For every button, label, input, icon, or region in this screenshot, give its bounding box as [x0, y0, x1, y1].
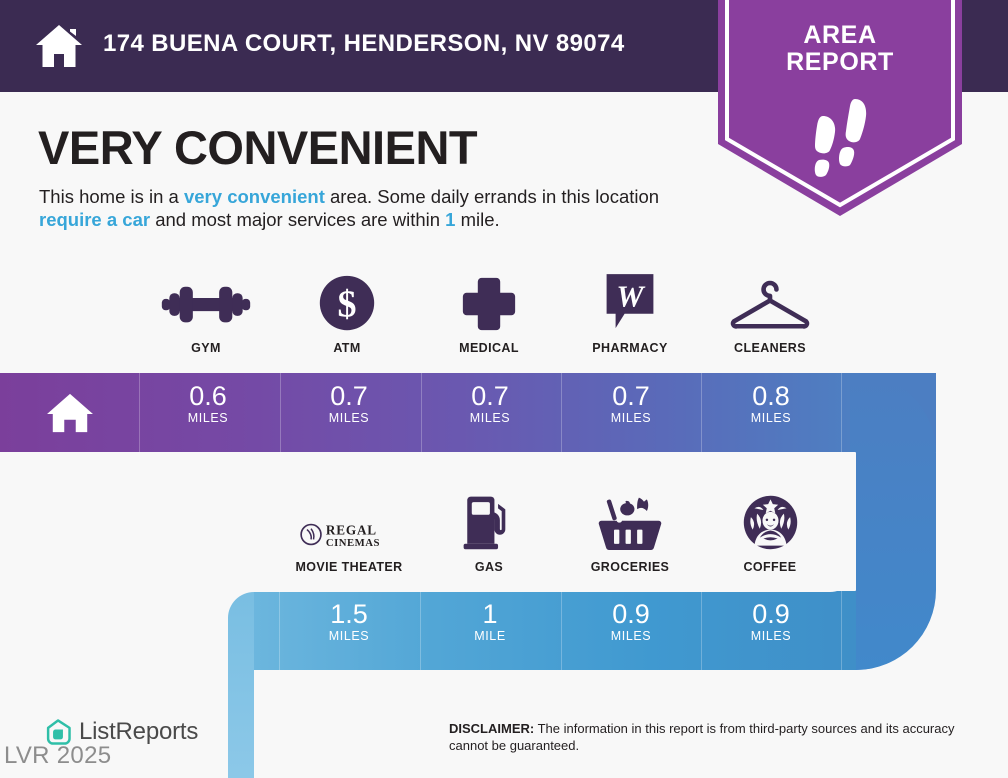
poi-label: PHARMACY — [560, 341, 700, 355]
distance-unit: MILES — [279, 629, 419, 643]
distance-cleaners: 0.8 MILES — [701, 373, 841, 452]
page-title: VERY CONVENIENT — [38, 120, 477, 175]
segment-divider — [420, 591, 421, 670]
dumbbell-icon — [136, 270, 276, 332]
distance-pharmacy: 0.7 MILES — [561, 373, 701, 452]
poi-medical: MEDICAL — [419, 270, 559, 355]
segment-divider — [841, 373, 842, 452]
poi-atm: $ ATM — [277, 270, 417, 355]
distance-unit: MILES — [279, 411, 419, 425]
listreports-brand-name: ListReports — [79, 718, 198, 746]
poi-movie-theater: REGAL CINEMAS MOVIE THEATER — [279, 489, 419, 574]
house-icon — [33, 22, 85, 70]
property-address: 174 BUENA COURT, HENDERSON, NV 89074 — [103, 30, 625, 58]
distance-value: 1.5 — [279, 600, 419, 629]
poi-label: ATM — [277, 341, 417, 355]
poi-label: COFFEE — [700, 560, 840, 574]
distance-medical: 0.7 MILES — [420, 373, 560, 452]
distance-unit: MILES — [701, 411, 841, 425]
poi-pharmacy: W PHARMACY — [560, 270, 700, 355]
poi-label: CLEANERS — [700, 341, 840, 355]
poi-label: GYM — [136, 341, 276, 355]
distance-value: 0.7 — [561, 382, 701, 411]
distance-value: 0.7 — [279, 382, 419, 411]
listreports-house-pin-icon — [44, 718, 72, 746]
clothes-hanger-icon — [700, 270, 840, 332]
summary-highlight-2: require a car — [39, 209, 150, 230]
walgreens-w-icon: W — [560, 270, 700, 332]
segment-divider — [279, 591, 280, 670]
distance-value: 0.6 — [138, 382, 278, 411]
distance-unit: MILES — [561, 629, 701, 643]
distance-groceries: 0.9 MILES — [561, 591, 701, 670]
watermark: LVR 2025 — [4, 742, 111, 770]
medical-cross-icon — [419, 270, 559, 332]
distance-value: 0.8 — [701, 382, 841, 411]
area-report-badge: AREA REPORT — [718, 0, 962, 216]
poi-gas: GAS — [419, 489, 559, 574]
summary-highlight-1: very convenient — [184, 186, 325, 207]
poi-gym: GYM — [136, 270, 276, 355]
poi-coffee: COFFEE — [700, 489, 840, 574]
area-report-page: 174 BUENA COURT, HENDERSON, NV 89074 ARE… — [0, 0, 1008, 778]
segment-divider — [841, 591, 842, 670]
distance-unit: MILE — [420, 629, 560, 643]
distance-unit: MILES — [420, 411, 560, 425]
poi-label: MOVIE THEATER — [279, 560, 419, 574]
summary-text-1: This home is in a — [39, 186, 184, 207]
summary-highlight-3: 1 — [445, 209, 455, 230]
distance-atm: 0.7 MILES — [279, 373, 419, 452]
summary-description: This home is in a very convenient area. … — [39, 185, 719, 231]
distance-coffee: 0.9 MILES — [701, 591, 841, 670]
regal-cinemas-icon: REGAL CINEMAS — [279, 489, 419, 551]
summary-text-2: area. Some daily errands in this locatio… — [325, 186, 659, 207]
poi-label: GROCERIES — [560, 560, 700, 574]
segment-divider — [701, 373, 702, 452]
distance-value: 0.7 — [420, 382, 560, 411]
distance-value: 1 — [420, 600, 560, 629]
distance-unit: MILES — [701, 629, 841, 643]
svg-text:$: $ — [337, 284, 356, 326]
disclaimer-label: DISCLAIMER: — [449, 721, 534, 736]
distance-movie-theater: 1.5 MILES — [279, 591, 419, 670]
distance-unit: MILES — [561, 411, 701, 425]
segment-divider — [421, 373, 422, 452]
svg-text:W: W — [616, 280, 645, 314]
poi-label: GAS — [419, 560, 559, 574]
starbucks-icon — [700, 489, 840, 551]
distance-gas: 1 MILE — [420, 591, 560, 670]
segment-divider — [561, 591, 562, 670]
gas-pump-icon — [419, 489, 559, 551]
summary-text-3: and most major services are within — [150, 209, 445, 230]
poi-label: MEDICAL — [419, 341, 559, 355]
segment-divider — [280, 373, 281, 452]
segment-divider — [139, 373, 140, 452]
distance-value: 0.9 — [561, 600, 701, 629]
disclaimer: DISCLAIMER: The information in this repo… — [449, 720, 973, 754]
listreports-logo: ListReports — [44, 718, 198, 746]
dollar-coin-icon: $ — [277, 270, 417, 332]
svg-text:CINEMAS: CINEMAS — [326, 537, 380, 549]
segment-divider — [561, 373, 562, 452]
svg-text:REGAL: REGAL — [326, 523, 377, 538]
grocery-basket-icon — [560, 489, 700, 551]
summary-text-4: mile. — [455, 209, 499, 230]
poi-groceries: GROCERIES — [560, 489, 700, 574]
distance-value: 0.9 — [701, 600, 841, 629]
poi-cleaners: CLEANERS — [700, 270, 840, 355]
distance-unit: MILES — [138, 411, 278, 425]
home-marker — [0, 373, 140, 452]
distance-gym: 0.6 MILES — [138, 373, 278, 452]
segment-divider — [701, 591, 702, 670]
